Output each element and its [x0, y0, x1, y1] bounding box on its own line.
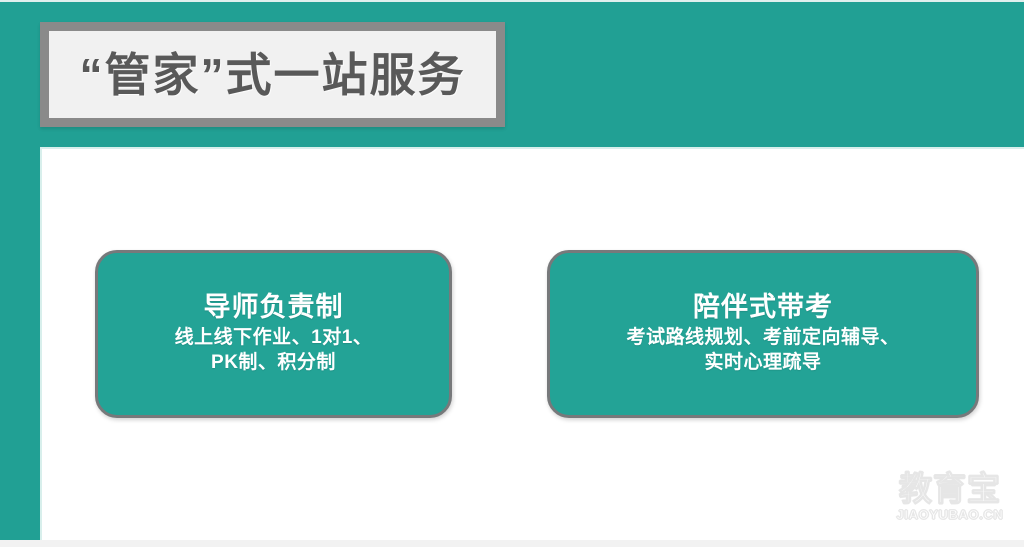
watermark-brand-en: JIAOYUBAO.CN [888, 508, 1012, 521]
card-mentor-subtitle: 线上线下作业、1对1、 PK制、积分制 [175, 325, 373, 376]
watermark: 教育宝 JIAOYUBAO.CN [888, 472, 1012, 521]
content-panel: 导师负责制 线上线下作业、1对1、 PK制、积分制 陪伴式带考 考试路线规划、考… [42, 149, 1024, 540]
slide-canvas: 导师负责制 线上线下作业、1对1、 PK制、积分制 陪伴式带考 考试路线规划、考… [0, 0, 1024, 547]
cards-row: 导师负责制 线上线下作业、1对1、 PK制、积分制 陪伴式带考 考试路线规划、考… [42, 149, 1024, 540]
card-exam-companionship[interactable]: 陪伴式带考 考试路线规划、考前定向辅导、 实时心理疏导 [547, 250, 979, 418]
card-mentor-title: 导师负责制 [204, 292, 344, 322]
card-mentor-responsibility[interactable]: 导师负责制 线上线下作业、1对1、 PK制、积分制 [95, 250, 452, 418]
top-hairline [0, 0, 1024, 2]
slide-title-plaque: “管家”式一站服务 [40, 22, 505, 127]
card-exam-subtitle: 考试路线规划、考前定向辅导、 实时心理疏导 [626, 325, 899, 376]
watermark-brand-cn: 教育宝 [888, 472, 1012, 505]
card-exam-title: 陪伴式带考 [693, 292, 833, 322]
bottom-strip [0, 540, 1024, 547]
page-title: “管家”式一站服务 [80, 52, 466, 98]
teal-left-band [0, 2, 40, 540]
